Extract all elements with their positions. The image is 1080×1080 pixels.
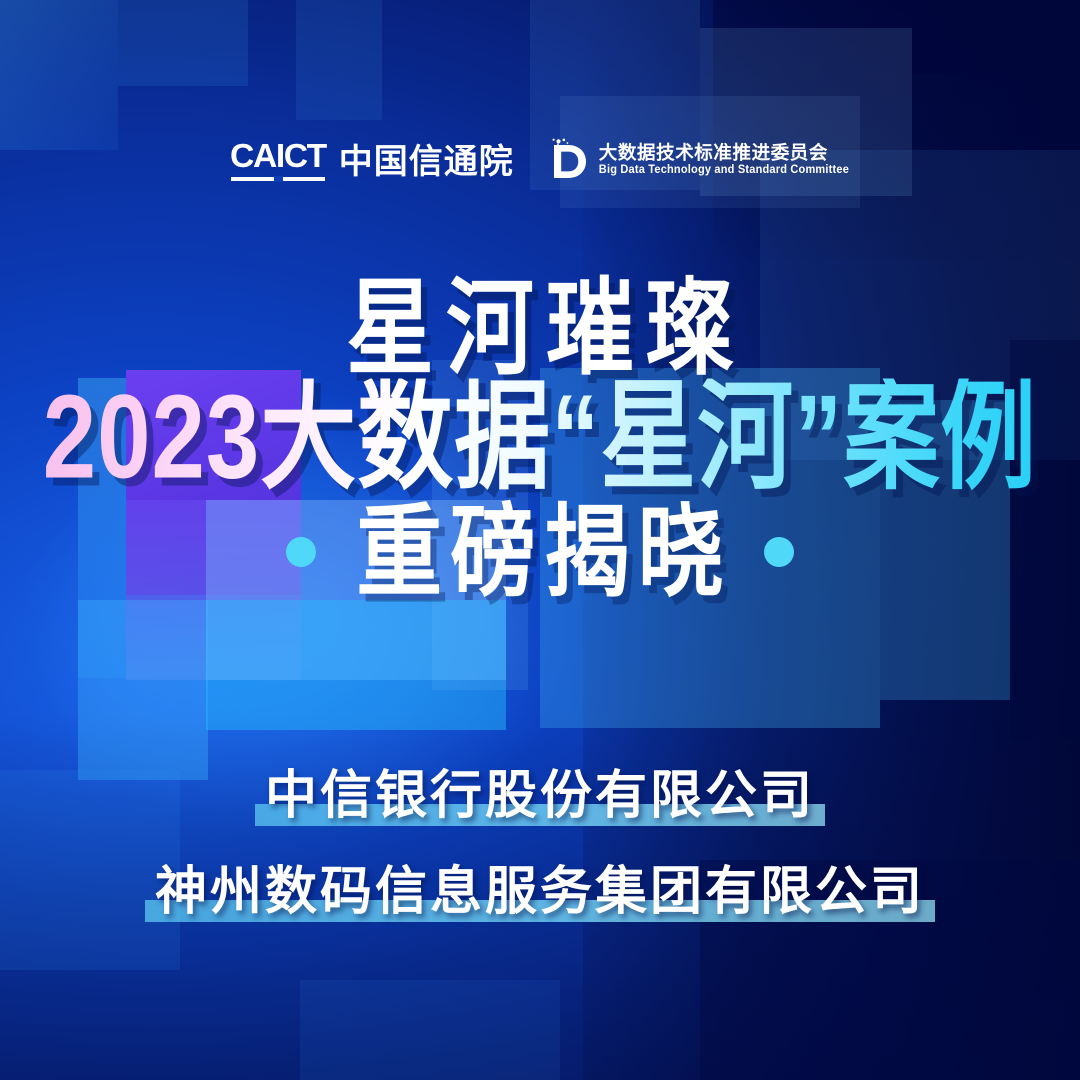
header-logos: CAICT 中国信通院 大数据技术标准推进委员会 Big Data T (0, 138, 1080, 182)
block-top-strip-b (296, 0, 382, 120)
block-top-strip-a (118, 0, 248, 86)
letter-d-mark-icon (548, 138, 588, 182)
decorative-dot-left-icon (286, 537, 316, 567)
title-line-3: 重磅揭晓 (348, 502, 732, 603)
caict-logo: CAICT 中国信通院 (231, 139, 514, 181)
block-cyan-mid-left (78, 600, 208, 780)
block-top-right-dark (912, 0, 1080, 74)
company-name-2: 神州数码信息服务集团有限公司 (155, 866, 925, 918)
title-line-2: 2023大数据“星河”案例 (0, 378, 1080, 497)
block-bottom-mid (300, 980, 560, 1080)
block-topleft-cyan (0, 0, 118, 150)
company-highlight-band-2 (145, 900, 935, 922)
title-line-3-row: 重磅揭晓 (0, 510, 1080, 594)
company-highlight-band-1 (255, 804, 825, 826)
poster-canvas: CAICT 中国信通院 大数据技术标准推进委员会 Big Data T (0, 0, 1080, 1080)
bigdata-committee-text: 大数据技术标准推进委员会 Big Data Technology and Sta… (599, 144, 849, 177)
caict-underline-icon (231, 177, 325, 181)
winner-company-list: 中信银行股份有限公司 神州数码信息服务集团有限公司 (0, 770, 1080, 918)
caict-wordmark: CAICT (230, 139, 326, 172)
company-name-1: 中信银行股份有限公司 (265, 770, 815, 822)
title-group: 星河璀璨 2023大数据“星河”案例 2023大数据“星河”案例 重磅揭晓 (0, 286, 1080, 594)
decorative-dot-right-icon (764, 537, 794, 567)
bigdata-committee-english: Big Data Technology and Standard Committ… (599, 165, 849, 177)
bigdata-committee-chinese: 大数据技术标准推进委员会 (599, 144, 849, 163)
bigdata-committee-logo: 大数据技术标准推进委员会 Big Data Technology and Sta… (548, 138, 849, 182)
title-line-2-wrap: 2023大数据“星河”案例 2023大数据“星河”案例 (0, 390, 1080, 486)
title-line-1: 星河璀璨 (0, 277, 1080, 382)
company-row-2: 神州数码信息服务集团有限公司 (0, 866, 1080, 918)
company-row-1: 中信银行股份有限公司 (0, 770, 1080, 866)
caict-wordmark-group: CAICT (231, 139, 325, 181)
caict-chinese-name: 中国信通院 (339, 145, 514, 181)
